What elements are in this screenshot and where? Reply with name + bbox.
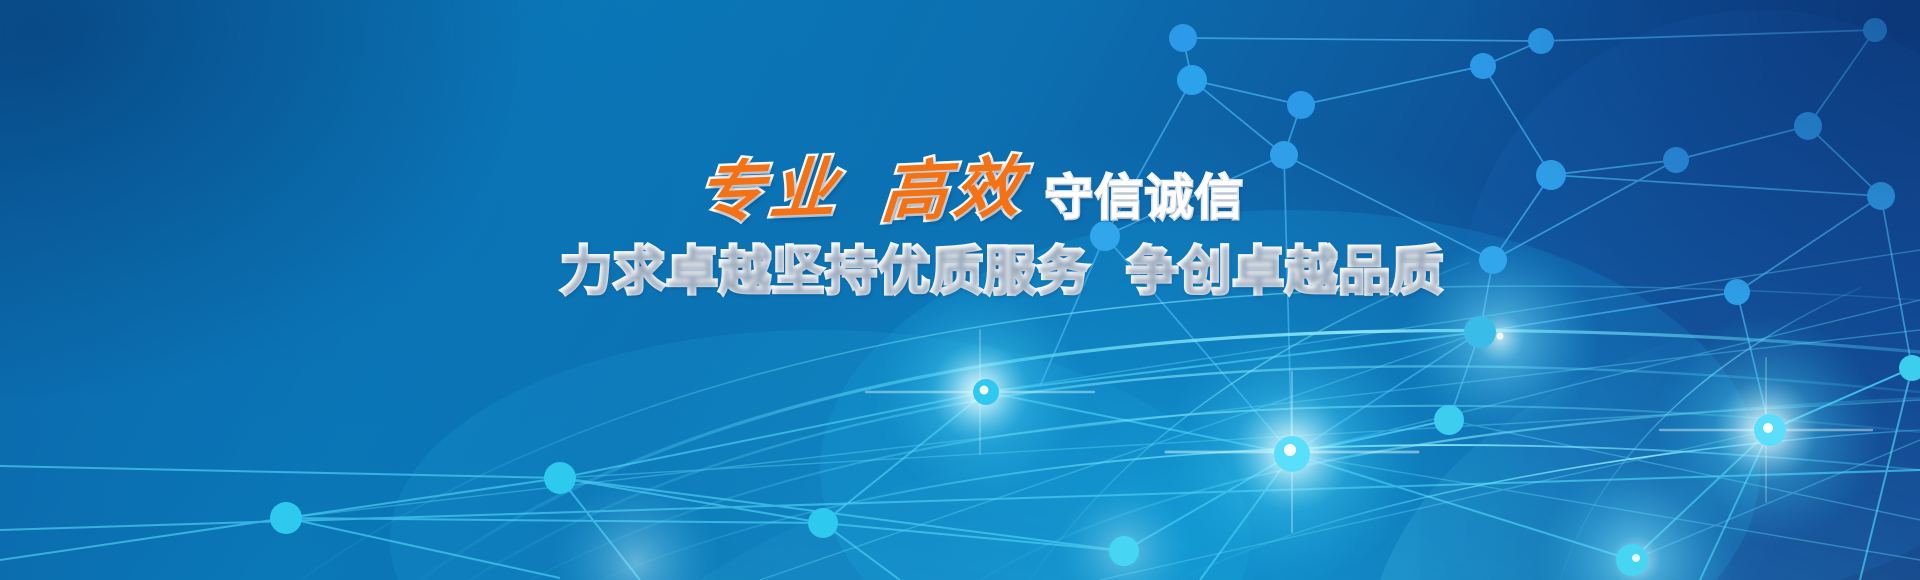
network-node	[1528, 28, 1554, 54]
network-node	[544, 462, 576, 494]
slogan-outline-part: 守信诚信	[1045, 174, 1245, 226]
network-node	[1470, 53, 1496, 79]
network-node	[1169, 24, 1197, 52]
network-node	[1536, 160, 1566, 190]
network-node	[1616, 544, 1648, 576]
network-node	[1434, 405, 1464, 435]
network-node	[1177, 65, 1207, 95]
slogan-line-2: 力求卓越坚持优质服务 争创卓越品质	[560, 246, 1380, 298]
network-node	[1109, 536, 1139, 566]
network-node	[270, 502, 302, 534]
network-node	[808, 508, 838, 538]
network-node	[1464, 316, 1496, 348]
network-node	[1287, 91, 1315, 119]
slogan-line-2-segment-1: 力求卓越坚持优质服务	[560, 242, 1090, 302]
slogan-brush-part-1: 专业	[695, 155, 845, 226]
network-node	[1724, 279, 1750, 305]
network-node	[1867, 182, 1895, 210]
slogan-brush-part-2: 高效	[879, 154, 1029, 226]
slogan-block: 专业 高效 守信诚信 力求卓越坚持优质服务 争创卓越品质	[560, 160, 1380, 298]
network-node	[1863, 18, 1887, 42]
slogan-line-2-separator	[1090, 242, 1126, 302]
network-node	[1479, 246, 1507, 274]
hero-banner: 专业 高效 守信诚信 力求卓越坚持优质服务 争创卓越品质	[0, 0, 1920, 580]
slogan-line-2-segment-2: 争创卓越品质	[1126, 242, 1444, 302]
network-node	[1663, 147, 1689, 173]
network-node	[1794, 112, 1822, 140]
slogan-line-1: 专业 高效 守信诚信	[560, 160, 1380, 226]
